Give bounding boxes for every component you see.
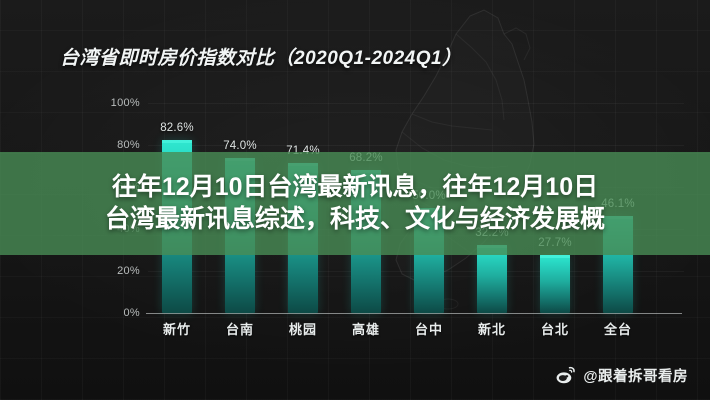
ytick-label-20: 20% xyxy=(94,265,140,277)
xtick-label-4: 台中 xyxy=(393,319,465,338)
xtick-label-3: 高雄 xyxy=(330,319,402,338)
bar-5[interactable] xyxy=(477,245,507,313)
watermark: @跟着拆哥看房 xyxy=(555,365,688,386)
xtick-label-5: 新北 xyxy=(456,319,528,338)
ytick-label-80: 80% xyxy=(94,139,140,151)
xtick-label-1: 台南 xyxy=(204,319,276,338)
overlay-caption-line-2: 台湾最新讯息综述，科技、文化与经济发展概 xyxy=(105,205,605,235)
xtick-label-2: 桃园 xyxy=(267,319,339,338)
bar-value-label-0: 82.6% xyxy=(141,122,213,134)
overlay-caption-line-1: 往年12月10日台湾最新讯息，往年12月10日 xyxy=(112,173,598,203)
watermark-handle: @跟着拆哥看房 xyxy=(583,365,688,386)
ytick-label-100: 100% xyxy=(94,97,140,109)
xtick-label-7: 全台 xyxy=(582,319,654,338)
overlay-caption: 往年12月10日台湾最新讯息，往年12月10日 台湾最新讯息综述，科技、文化与经… xyxy=(0,152,710,255)
bar-value-label-1: 74.0% xyxy=(204,140,276,152)
bar-6[interactable] xyxy=(540,255,570,313)
xtick-label-6: 台北 xyxy=(519,319,591,338)
weibo-icon xyxy=(555,365,576,386)
ytick-label-0: 0% xyxy=(94,307,140,319)
xtick-label-0: 新竹 xyxy=(141,319,213,338)
chart-screenshot: 台湾省即时房价指数对比（2020Q1-2024Q1） 100% 80% 60% … xyxy=(0,0,710,400)
